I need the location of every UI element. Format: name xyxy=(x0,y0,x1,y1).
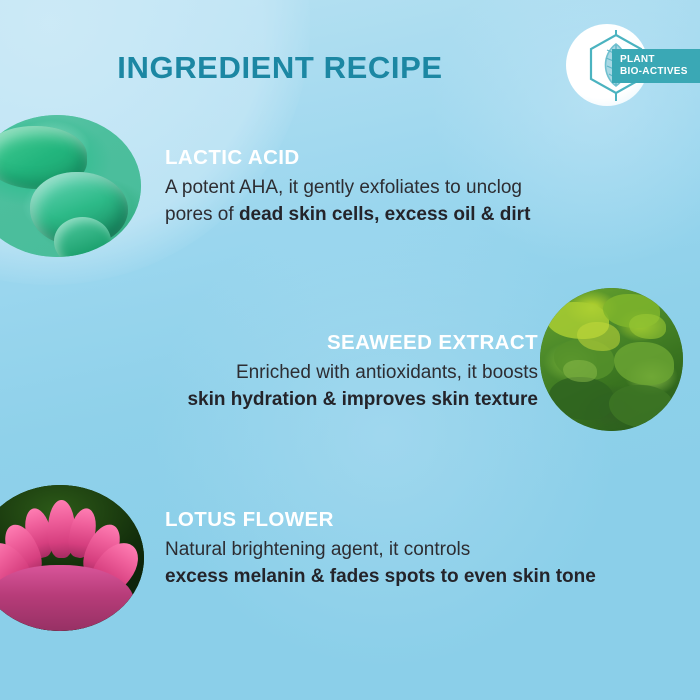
ingredient-body-lactic-acid: A potent AHA, it gently exfoliates to un… xyxy=(165,175,635,228)
seaweed-photo xyxy=(540,288,683,431)
gel-photo-inner xyxy=(0,115,141,257)
ingredient-block-seaweed-extract: SEAWEED EXTRACT Enriched with antioxidan… xyxy=(110,330,538,413)
ingredient-heading-lotus-flower: LOTUS FLOWER xyxy=(165,507,675,533)
gel-droplets-photo xyxy=(0,115,141,257)
ingredient-block-lotus-flower: LOTUS FLOWER Natural brightening agent, … xyxy=(165,507,675,590)
ingredient-heading-lactic-acid: LACTIC ACID xyxy=(165,145,635,171)
ingredient-body-lotus-flower: Natural brightening agent, it controls e… xyxy=(165,537,675,590)
plant-bio-actives-badge: PLANT BIO-ACTIVES xyxy=(566,24,700,106)
ingredient-block-lactic-acid: LACTIC ACID A potent AHA, it gently exfo… xyxy=(165,145,635,228)
seaweed-body-line2-bold: skin hydration & improves skin texture xyxy=(187,389,538,410)
ingredient-recipe-poster: INGREDIENT RECIPE PLANT BIO-ACTIVES xyxy=(0,0,700,700)
lotus-body-line2-bold: excess melanin & fades spots to even ski… xyxy=(165,566,596,587)
lotus-flower-photo xyxy=(0,485,144,631)
lotus-base-petals xyxy=(0,565,134,631)
seaweed-body-line1: Enriched with antioxidants, it boosts xyxy=(236,362,538,383)
ingredient-heading-seaweed-extract: SEAWEED EXTRACT xyxy=(110,330,538,356)
lactic-body-line2-bold: dead skin cells, excess oil & dirt xyxy=(239,204,530,225)
lactic-body-line2-plain: pores of xyxy=(165,204,239,225)
badge-banner: PLANT BIO-ACTIVES xyxy=(612,49,700,83)
badge-line-1: PLANT xyxy=(620,54,698,66)
ingredient-body-seaweed-extract: Enriched with antioxidants, it boosts sk… xyxy=(110,360,538,413)
decorative-blob-center xyxy=(150,200,620,670)
lactic-body-line1: A potent AHA, it gently exfoliates to un… xyxy=(165,177,522,198)
lotus-body-line1: Natural brightening agent, it controls xyxy=(165,539,470,560)
lotus-photo-inner xyxy=(0,485,144,631)
page-title: INGREDIENT RECIPE xyxy=(0,50,560,86)
seaweed-photo-inner xyxy=(540,288,683,431)
badge-line-2: BIO-ACTIVES xyxy=(620,66,698,78)
gel-blob-bottom xyxy=(54,217,111,257)
